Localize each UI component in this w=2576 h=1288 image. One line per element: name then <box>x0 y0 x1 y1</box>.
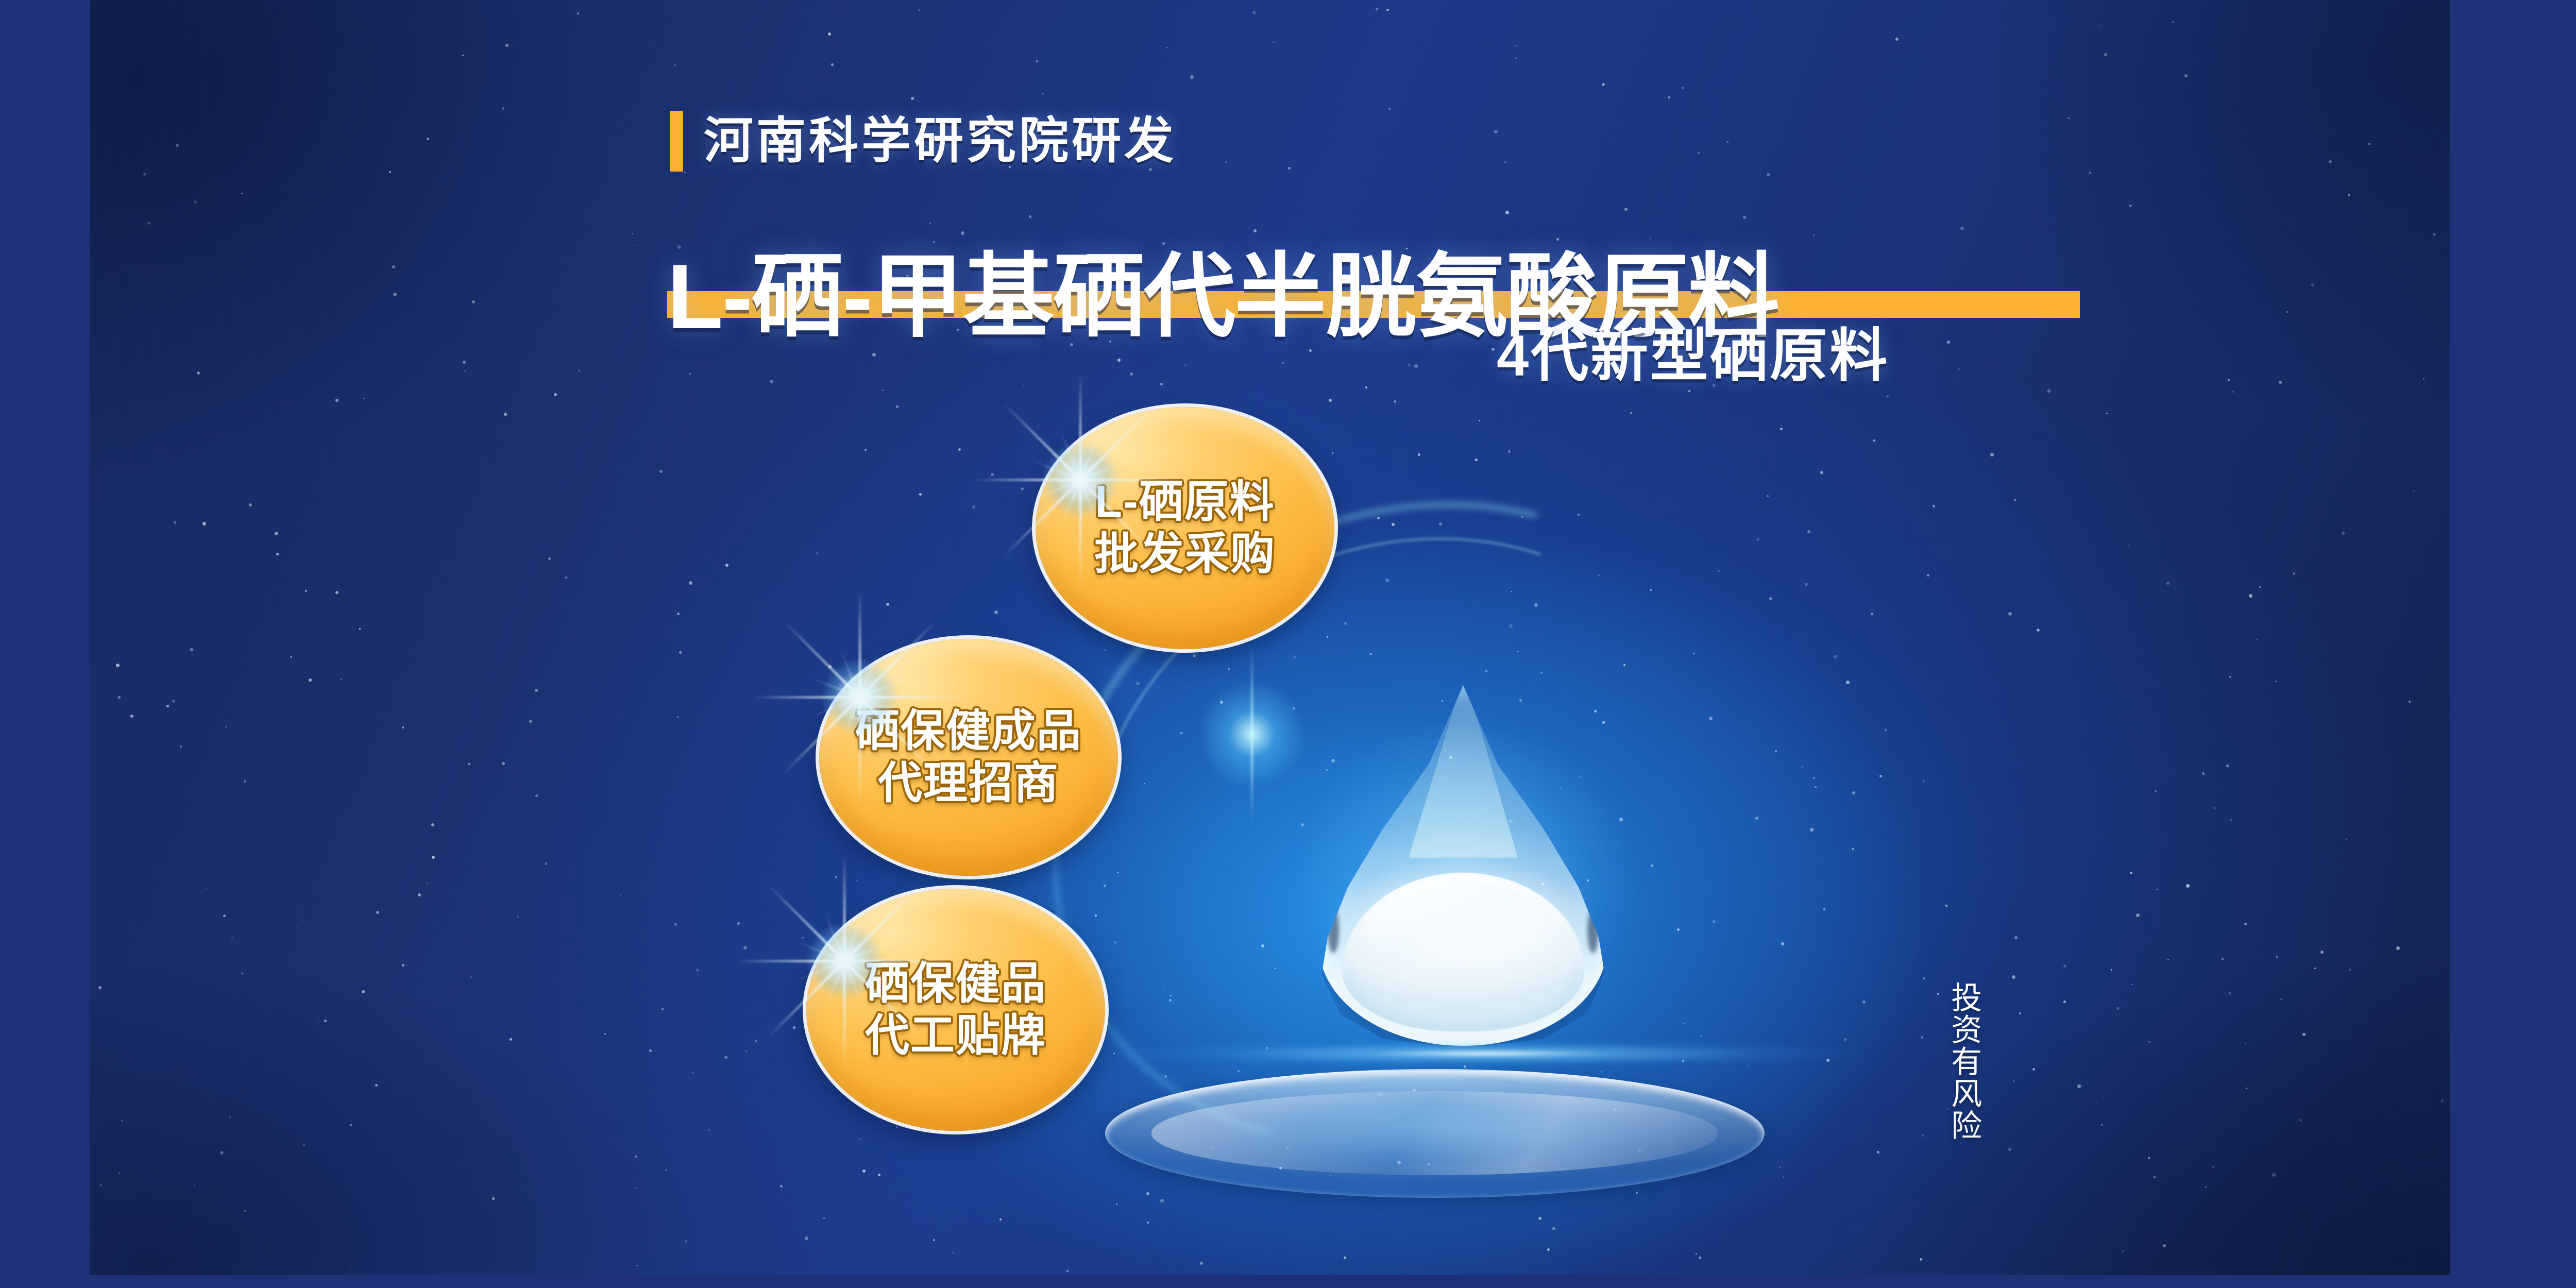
disclaimer-text: 投资有风险 <box>1942 981 1985 1141</box>
banner-stage: 河南科学研究院研发 L-硒-甲基硒代半胱氨酸原料 4代新型硒原料 L-硒原料 批… <box>90 0 2450 1275</box>
bubble-line-2: 代工贴牌 <box>865 1010 1046 1062</box>
bubble-line-1: 硒保健品 <box>865 958 1046 1010</box>
glass-disc-platform <box>1105 1069 1765 1198</box>
droplet-spire <box>1409 685 1518 858</box>
kicker-label: 河南科学研究院研发 <box>704 116 1177 166</box>
banner-root: 河南科学研究院研发 L-硒-甲基硒代半胱氨酸原料 4代新型硒原料 L-硒原料 批… <box>0 0 2576 1288</box>
kicker-accent-bar <box>670 111 683 172</box>
droplet-rim-left <box>1328 909 1339 953</box>
product-droplet <box>1319 685 1607 1046</box>
arc-sparkle-icon <box>1198 680 1306 788</box>
bubble-tail <box>975 1051 1112 1179</box>
white-powder <box>1342 873 1584 1031</box>
kicker: 河南科学研究院研发 <box>670 111 1177 172</box>
page-subtitle: 4代新型硒原料 <box>1497 327 1889 385</box>
bottom-margin-band <box>0 1275 2576 1288</box>
bubble-tail <box>1205 569 1341 698</box>
bubble-line-1: 硒保健成品 <box>855 705 1082 757</box>
bubble-agency[interactable]: 硒保健成品 代理招商 <box>819 639 1118 876</box>
left-margin-band <box>0 0 90 1288</box>
droplet-rim-right <box>1587 909 1599 953</box>
bubble-oem[interactable]: 硒保健品 代工贴牌 <box>806 889 1105 1131</box>
right-margin-band <box>2450 0 2576 1288</box>
bubble-line-2: 批发采购 <box>1094 528 1276 580</box>
bubble-line-2: 代理招商 <box>878 757 1059 809</box>
bubble-line-1: L-硒原料 <box>1095 476 1275 528</box>
bubble-wholesale[interactable]: L-硒原料 批发采购 <box>1036 407 1334 649</box>
